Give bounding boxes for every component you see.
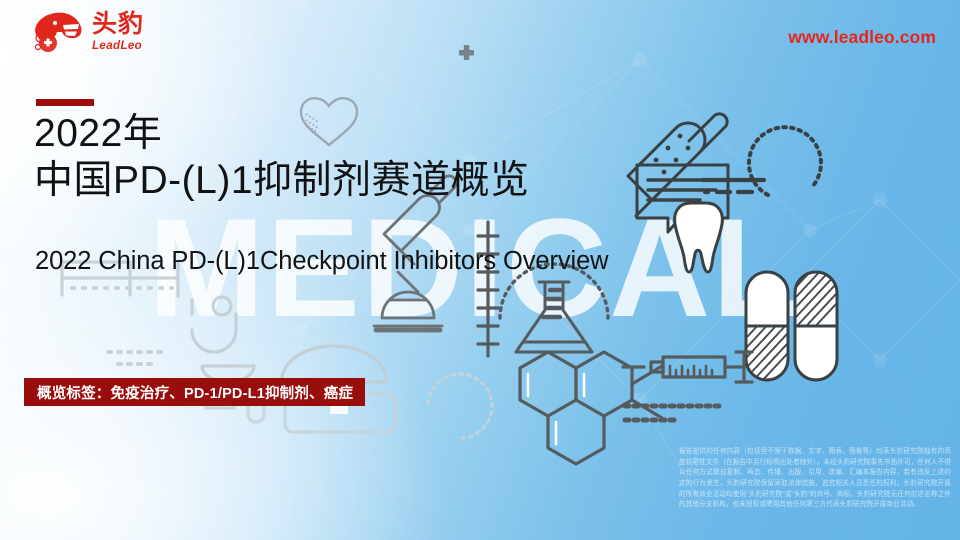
slide-root: MEDICAL xyxy=(0,0,960,540)
disclaimer-text: 报告提供的任何内容（包括但不限于数据、文字、图表、图像等）均系头豹研究院独有的高… xyxy=(679,447,951,511)
title-accent-rule xyxy=(36,99,94,106)
logo-chinese-name: 头豹 xyxy=(92,12,144,37)
overview-tag-bar: 概览标签：免疫治疗、PD-1/PD-L1抑制剂、癌症 xyxy=(24,378,365,406)
logo-english-name: LeadLeo xyxy=(92,41,144,53)
title-main-chinese: 中国PD-(L)1抑制剂赛道概览 xyxy=(34,158,734,204)
leopard-head-logo-icon xyxy=(33,10,85,54)
title-block: 2022年 中国PD-(L)1抑制剂赛道概览 xyxy=(34,112,734,204)
title-year: 2022年 xyxy=(34,112,734,156)
site-url[interactable]: www.leadleo.com xyxy=(788,27,936,48)
brand-logo[interactable]: 头豹 LeadLeo xyxy=(33,10,144,54)
title-subtitle-english: 2022 China PD-(L)1Checkpoint Inhibitors … xyxy=(35,247,608,276)
